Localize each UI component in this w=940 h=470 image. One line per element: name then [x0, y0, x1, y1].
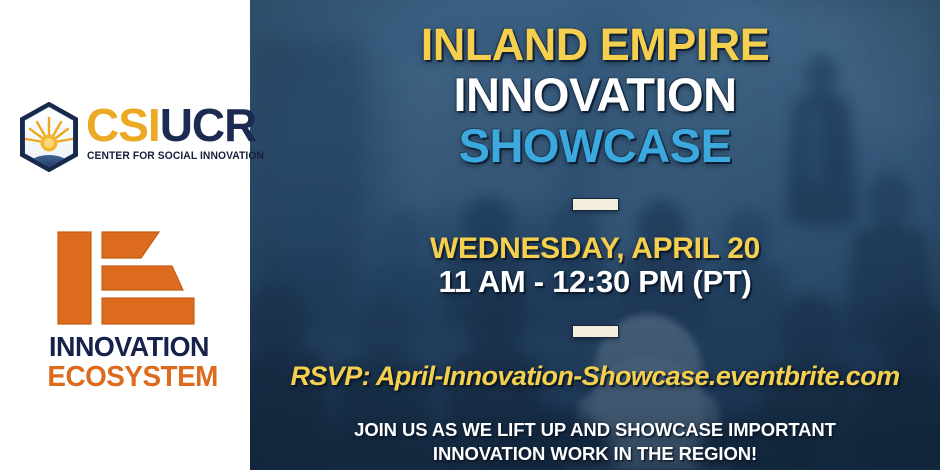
tagline-line-2: INNOVATION WORK IN THE REGION!: [250, 442, 940, 466]
photo-panel: INLAND EMPIRE INNOVATION SHOWCASE WEDNES…: [250, 0, 940, 470]
ie-monogram-icon: [56, 228, 196, 328]
rsvp-link[interactable]: RSVP: April-Innovation-Showcase.eventbri…: [250, 362, 940, 392]
ie-innovation-word: INNOVATION: [47, 332, 210, 362]
tagline-line-1: JOIN US AS WE LIFT UP AND SHOWCASE IMPOR…: [250, 418, 940, 442]
event-tagline: JOIN US AS WE LIFT UP AND SHOWCASE IMPOR…: [250, 418, 940, 465]
hexagon-sunrise-icon: [16, 102, 82, 172]
event-date: WEDNESDAY, APRIL 20: [250, 233, 940, 265]
title-line-inland-empire: INLAND EMPIRE: [250, 22, 940, 68]
ie-wordmark: INNOVATION ECOSYSTEM: [44, 332, 214, 393]
ucr-word: UCR: [160, 99, 257, 151]
title-line-showcase: SHOWCASE: [250, 122, 940, 170]
csi-ucr-logo: CSIUCR CENTER FOR SOCIAL INNOVATION: [8, 98, 248, 176]
logo-panel: CSIUCR CENTER FOR SOCIAL INNOVATION INNO…: [0, 0, 250, 470]
csi-ucr-wordmark: CSIUCR: [86, 100, 246, 150]
banner-content: INLAND EMPIRE INNOVATION SHOWCASE WEDNES…: [250, 0, 940, 470]
csi-subtitle: CENTER FOR SOCIAL INNOVATION: [87, 150, 264, 162]
ie-ecosystem-word: ECOSYSTEM: [47, 362, 210, 393]
event-banner: CSIUCR CENTER FOR SOCIAL INNOVATION INNO…: [0, 0, 940, 470]
title-line-innovation: INNOVATION: [250, 71, 940, 119]
divider-rule-bottom: [572, 325, 619, 338]
innovation-ecosystem-logo: INNOVATION ECOSYSTEM: [44, 228, 214, 400]
divider-rule-top: [572, 198, 619, 211]
csi-word: CSI: [86, 99, 160, 151]
event-time: 11 AM - 12:30 PM (PT): [250, 265, 940, 300]
